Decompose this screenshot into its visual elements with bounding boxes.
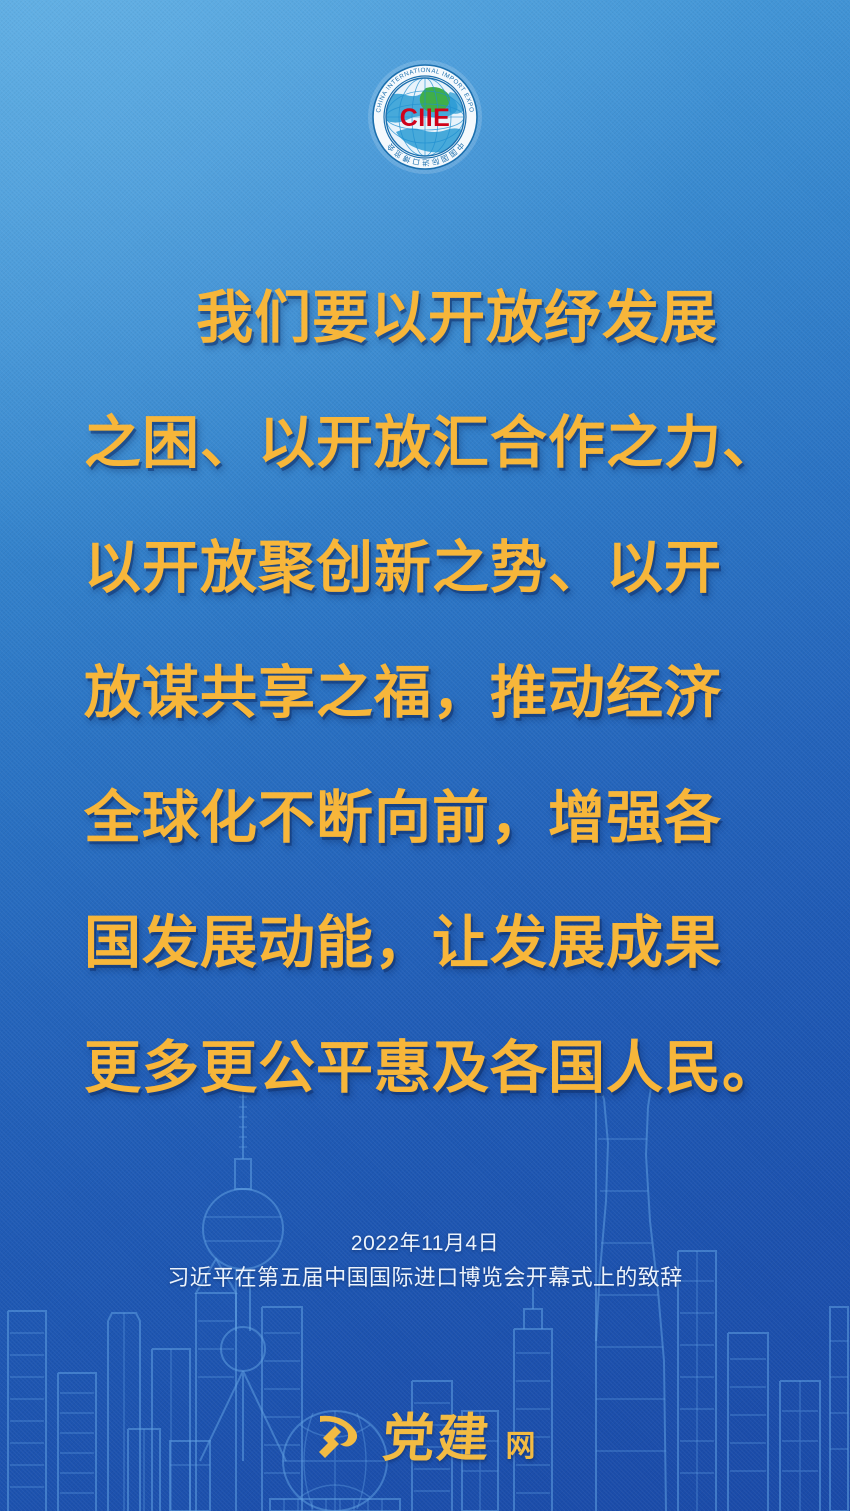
poster-root: CHINA INTERNATIONAL IMPORT EXPO 中国国际进口博览… xyxy=(0,0,850,1511)
quote-line: 更多更公平惠及各国人民。 xyxy=(84,1006,766,1131)
quote-line: 放谋共享之福，推动经济 xyxy=(84,631,766,756)
quote-line: 我们要以开放纾发展 xyxy=(84,256,766,381)
speech-source: 习近平在第五届中国国际进口博览会开幕式上的致辞 xyxy=(0,1260,850,1296)
quote-block: 我们要以开放纾发展 之困、以开放汇合作之力、 以开放聚创新之势、以开 放谋共享之… xyxy=(0,256,850,1131)
ciie-acronym-text: CIIE xyxy=(400,104,451,132)
quote-line: 全球化不断向前，增强各 xyxy=(84,756,766,881)
attribution-block: 2022年11月4日 习近平在第五届中国国际进口博览会开幕式上的致辞 xyxy=(0,1228,850,1296)
brand-name-suffix: 网 xyxy=(506,1421,537,1471)
brand-logo: 党建 网 xyxy=(0,1396,850,1471)
quote-line: 之困、以开放汇合作之力、 xyxy=(84,381,766,506)
brand-name-cn: 党建 xyxy=(381,1396,494,1471)
ciie-logo-icon: CHINA INTERNATIONAL IMPORT EXPO 中国国际进口博览… xyxy=(366,58,484,176)
pyramid-roof-building-icon xyxy=(196,1259,236,1511)
quote-line: 以开放聚创新之势、以开 xyxy=(84,506,766,631)
party-emblem-icon xyxy=(313,1408,369,1460)
quote-line: 国发展动能，让发展成果 xyxy=(84,881,766,1006)
ciie-logo-container: CHINA INTERNATIONAL IMPORT EXPO 中国国际进口博览… xyxy=(0,58,850,176)
speech-date: 2022年11月4日 xyxy=(0,1228,850,1260)
